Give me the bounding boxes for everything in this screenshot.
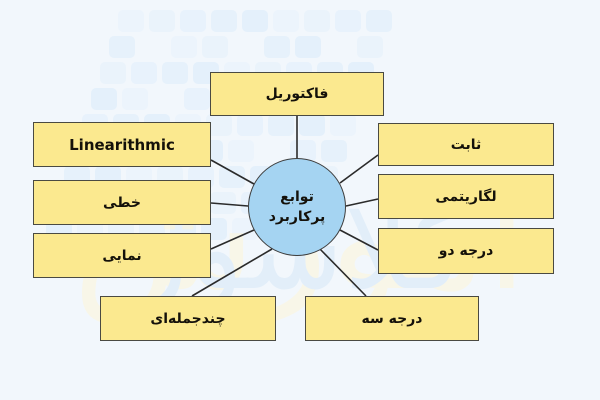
node-factorial[interactable]: فاکتوریل — [210, 72, 384, 116]
hub-label-line2: پرکاربرد — [269, 207, 326, 227]
node-label: ثابت — [451, 137, 482, 153]
edge-hub-to-cubic — [318, 247, 366, 296]
node-logarithmic[interactable]: لگاریتمی — [378, 174, 554, 219]
node-label: Linearithmic — [69, 136, 175, 154]
node-label: چندجمله‌ای — [150, 311, 225, 327]
edge-hub-to-linear — [211, 203, 248, 206]
node-label: درجه دو — [439, 243, 494, 259]
edge-hub-to-constant — [340, 155, 378, 183]
node-polynomial[interactable]: چندجمله‌ای — [100, 296, 276, 341]
edge-hub-to-exponential — [211, 230, 254, 249]
node-label: درجه سه — [362, 311, 423, 327]
edge-hub-to-logarithmic — [346, 199, 378, 206]
node-constant[interactable]: ثابت — [378, 123, 554, 166]
node-exponential[interactable]: نمایی — [33, 233, 211, 278]
node-quadratic[interactable]: درجه دو — [378, 228, 554, 274]
node-label: نمایی — [102, 248, 141, 264]
diagram-canvas: آموزش کلاسور توابع پرکاربرد فاکتوریلLine… — [0, 0, 600, 400]
edge-hub-to-linearithmic — [211, 160, 254, 184]
node-label: خطی — [103, 195, 141, 211]
hub-label-line1: توابع — [280, 187, 314, 207]
node-linear[interactable]: خطی — [33, 180, 211, 225]
node-label: لگاریتمی — [435, 189, 496, 205]
node-linearithmic[interactable]: Linearithmic — [33, 122, 211, 167]
edge-hub-to-quadratic — [340, 230, 378, 250]
node-label: فاکتوریل — [266, 86, 329, 102]
hub-node-common-functions[interactable]: توابع پرکاربرد — [248, 158, 346, 256]
node-cubic[interactable]: درجه سه — [305, 296, 479, 341]
